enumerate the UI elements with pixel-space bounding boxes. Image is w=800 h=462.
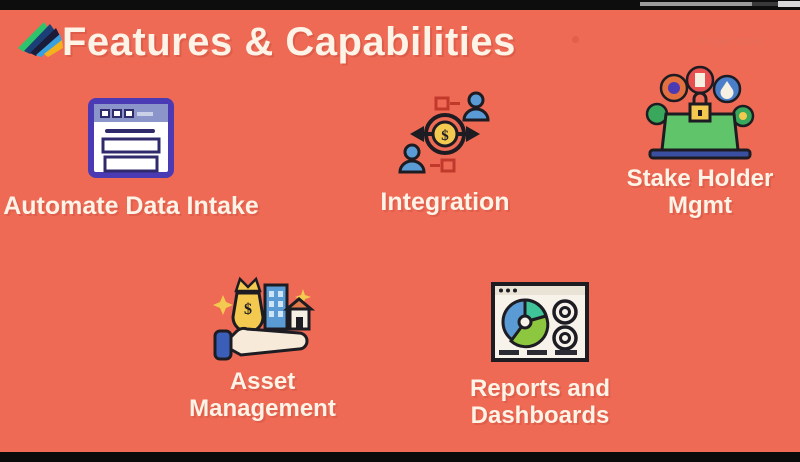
feature-label: Asset Management [155,369,370,423]
page-title: Features & Capabilities [62,20,516,65]
form-window-icon [0,88,276,188]
company-logo [14,18,66,58]
feature-reports-and-dashboards: Reports and Dashboards [420,272,660,430]
video-scrub-end-cap [778,1,800,7]
feature-label: Integration [350,188,540,216]
feature-label: Stake Holder Mgmt [600,166,800,220]
integration-network-icon: $ [350,84,540,184]
video-slide-screen: Features & Capabilities Page Sites Au [0,0,800,462]
watermark-text: Page Sites [700,36,763,48]
feature-integration: $ Integration [350,84,540,216]
feature-label: Automate Data Intake [0,192,276,220]
video-scrub-fill[interactable] [640,2,752,6]
slide-canvas: Features & Capabilities Page Sites Au [0,10,800,452]
cursor-dot [572,36,579,43]
video-player-bottom-bar [0,452,800,462]
feature-label: Reports and Dashboards [420,376,660,430]
dashboard-charts-icon [420,272,660,372]
laptop-security-icon [600,62,800,162]
feature-stake-holder-mgmt: Stake Holder Mgmt [600,62,800,220]
svg-text:$: $ [441,128,449,144]
hand-assets-icon: $ [155,265,370,365]
feature-automate-data-intake: Automate Data Intake [0,88,276,220]
svg-text:$: $ [244,301,252,318]
feature-asset-management: $ [155,265,370,423]
